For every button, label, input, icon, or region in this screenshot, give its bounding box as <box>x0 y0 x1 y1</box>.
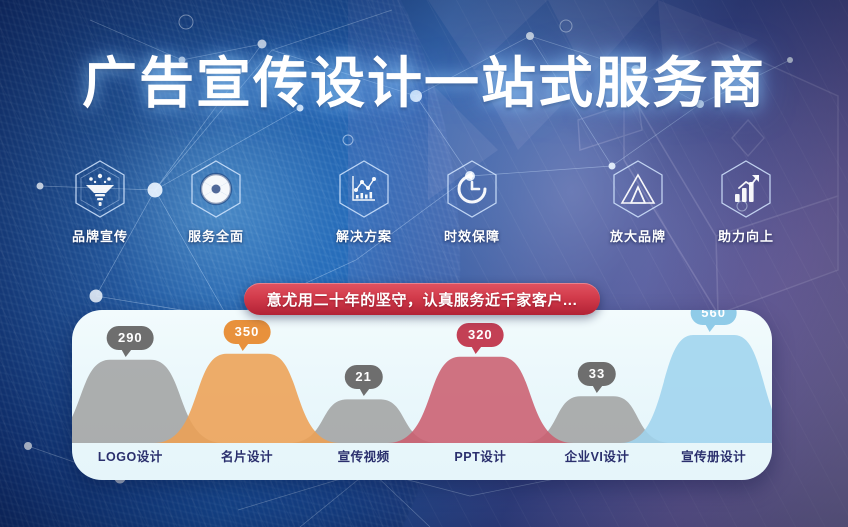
bubble-tail <box>471 345 483 354</box>
promo-banner: 意尤用二十年的坚守，认真服务近千家客户... <box>244 283 600 315</box>
chart-value-text: 320 <box>468 327 493 342</box>
chart-category-label: 企业VI设计 <box>565 446 630 465</box>
bubble-tail <box>358 387 370 396</box>
feature-item-service[interactable]: 服务全面 <box>168 158 264 245</box>
chart-value-bubble: 33 <box>578 362 616 386</box>
bubble-tail <box>592 384 604 393</box>
feature-icon-row: 品牌宣传 服务全面 <box>0 158 848 250</box>
chart-value-bubble: 350 <box>224 320 271 344</box>
chart-value-text: 560 <box>701 310 726 320</box>
poster-canvas: 广告宣传设计一站式服务商 品 <box>0 0 848 527</box>
chart-category-label: PPT设计 <box>454 446 506 465</box>
page-title: 广告宣传设计一站式服务商 <box>0 56 848 111</box>
chart-value-text: 33 <box>589 366 605 381</box>
feature-item-solution[interactable]: 解决方案 <box>316 158 412 245</box>
chart-value-bubble: 560 <box>690 310 737 325</box>
feature-label: 品牌宣传 <box>52 226 148 245</box>
chart-panel: LOGO设计名片设计宣传视频PPT设计企业VI设计宣传册设计 290350213… <box>72 310 772 480</box>
feature-item-timeliness[interactable]: 时效保障 <box>424 158 520 245</box>
feature-label: 服务全面 <box>168 226 264 245</box>
clock-history-icon <box>441 158 503 220</box>
feature-item-growth[interactable]: 助力向上 <box>698 158 794 245</box>
bell-curve-area <box>621 335 772 443</box>
triangle-icon <box>607 158 669 220</box>
chart-value-bubble: 290 <box>107 326 154 350</box>
feature-label: 助力向上 <box>698 226 794 245</box>
chart-value-text: 290 <box>118 330 143 345</box>
feature-label: 解决方案 <box>316 226 412 245</box>
chart-value-bubble: 320 <box>457 323 504 347</box>
megaphone-icon <box>69 158 131 220</box>
feature-item-brand[interactable]: 品牌宣传 <box>52 158 148 245</box>
chart-value-text: 21 <box>355 369 371 384</box>
bubble-tail <box>238 342 250 351</box>
feature-item-amplify[interactable]: 放大品牌 <box>590 158 686 245</box>
chart-category-label: LOGO设计 <box>98 446 163 465</box>
chart-axis-labels: LOGO设计名片设计宣传视频PPT设计企业VI设计宣传册设计 <box>72 446 772 466</box>
bubble-tail <box>121 348 133 357</box>
bell-curve-area <box>387 357 573 443</box>
chart-value-bubble: 21 <box>344 365 382 389</box>
bar-chart-up-icon <box>715 158 777 220</box>
network-chart-icon <box>333 158 395 220</box>
aperture-icon <box>185 158 247 220</box>
chart-category-label: 宣传视频 <box>338 446 390 465</box>
feature-label: 放大品牌 <box>590 226 686 245</box>
chart-category-label: 宣传册设计 <box>681 446 746 465</box>
chart-category-label: 名片设计 <box>221 446 273 465</box>
chart-value-text: 350 <box>235 324 260 339</box>
bubble-tail <box>704 323 716 332</box>
feature-label: 时效保障 <box>424 226 520 245</box>
promo-banner-text: 意尤用二十年的坚守，认真服务近千家客户... <box>267 289 578 310</box>
bell-curve-area <box>154 354 340 443</box>
